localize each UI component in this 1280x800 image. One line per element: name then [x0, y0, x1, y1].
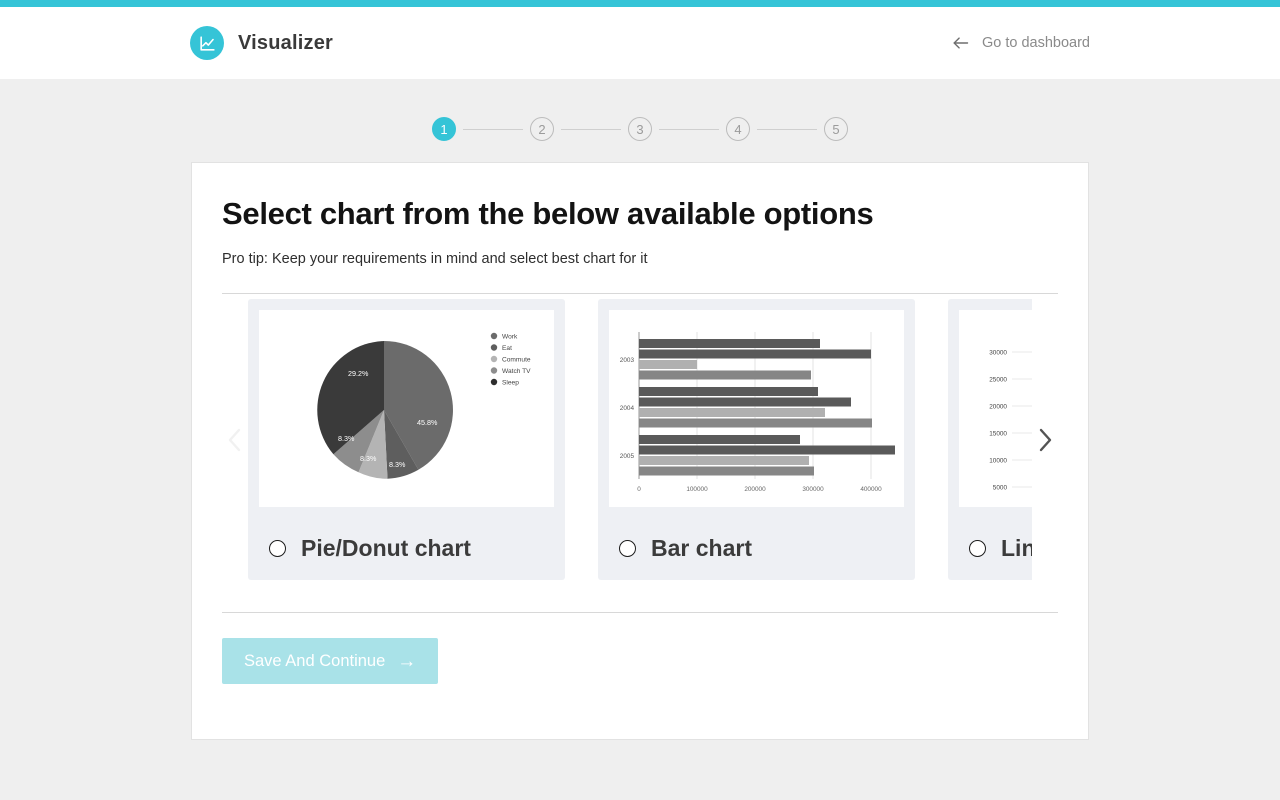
svg-text:2004: 2004: [620, 405, 635, 412]
app-header: Visualizer Go to dashboard: [0, 7, 1280, 79]
step-5[interactable]: 5: [824, 117, 848, 141]
step-connector-2: [561, 129, 621, 130]
radio-pie-chart[interactable]: [269, 540, 286, 557]
svg-text:200000: 200000: [744, 486, 766, 493]
svg-text:Commute: Commute: [502, 356, 531, 363]
svg-text:15000: 15000: [989, 430, 1007, 437]
chart-option-line[interactable]: 30000 25000 20000 15000 10000 5000 2015: [948, 299, 1032, 580]
chevron-right-icon[interactable]: [1032, 300, 1058, 580]
chart-options-carousel: 45.8% 8.3% 8.3% 8.3% 29.2% Work Eat Comm…: [222, 299, 1058, 580]
svg-text:300000: 300000: [802, 486, 824, 493]
svg-text:10000: 10000: [989, 457, 1007, 464]
bar-chart-svg: 2003 2004 2005 0 100000 200000 300000 40…: [610, 314, 903, 504]
svg-text:45.8%: 45.8%: [417, 418, 438, 427]
step-connector-3: [659, 129, 719, 130]
svg-text:Sleep: Sleep: [502, 379, 519, 386]
footer-divider: [222, 612, 1058, 613]
chart-option-line-footer[interactable]: Line: [959, 507, 1032, 580]
svg-text:Work: Work: [502, 333, 518, 340]
svg-text:Watch TV: Watch TV: [502, 367, 531, 374]
page-title: Select chart from the below available op…: [222, 196, 1058, 232]
step-2[interactable]: 2: [530, 117, 554, 141]
svg-text:25000: 25000: [989, 376, 1007, 383]
svg-text:8.3%: 8.3%: [389, 460, 406, 469]
go-to-dashboard-label: Go to dashboard: [982, 35, 1090, 51]
radio-bar-chart[interactable]: [619, 540, 636, 557]
pie-chart-thumb: 45.8% 8.3% 8.3% 8.3% 29.2% Work Eat Comm…: [259, 310, 554, 507]
chart-option-bar[interactable]: 2003 2004 2005 0 100000 200000 300000 40…: [598, 299, 915, 580]
svg-text:0: 0: [637, 486, 641, 493]
step-connector-4: [757, 129, 817, 130]
save-and-continue-label: Save And Continue: [244, 652, 385, 671]
line-chart-thumb: 30000 25000 20000 15000 10000 5000 2015: [959, 310, 1032, 507]
step-connector-1: [463, 129, 523, 130]
chart-option-pie-footer[interactable]: Pie/Donut chart: [259, 507, 554, 580]
step-1[interactable]: 1: [432, 117, 456, 141]
chart-option-pie-label: Pie/Donut chart: [301, 535, 471, 562]
svg-text:400000: 400000: [860, 486, 882, 493]
step-4[interactable]: 4: [726, 117, 750, 141]
svg-text:Eat: Eat: [502, 344, 512, 351]
step-3[interactable]: 3: [628, 117, 652, 141]
arrow-right-icon: →: [397, 652, 416, 671]
svg-text:8.3%: 8.3%: [360, 454, 377, 463]
carousel-viewport: 45.8% 8.3% 8.3% 8.3% 29.2% Work Eat Comm…: [248, 299, 1032, 580]
line-chart-svg: 30000 25000 20000 15000 10000 5000 2015: [960, 314, 1032, 504]
brand[interactable]: Visualizer: [190, 26, 333, 60]
svg-text:30000: 30000: [989, 349, 1007, 356]
chart-option-line-label: Line: [1001, 535, 1032, 562]
svg-text:20000: 20000: [989, 403, 1007, 410]
svg-text:2003: 2003: [620, 357, 635, 364]
go-to-dashboard-link[interactable]: Go to dashboard: [952, 35, 1090, 51]
svg-text:29.2%: 29.2%: [348, 369, 369, 378]
bar-chart-thumb: 2003 2004 2005 0 100000 200000 300000 40…: [609, 310, 904, 507]
save-and-continue-button[interactable]: Save And Continue →: [222, 638, 438, 684]
pie-chart-svg: 45.8% 8.3% 8.3% 8.3% 29.2% Work Eat Comm…: [260, 314, 553, 504]
brand-name: Visualizer: [238, 32, 333, 55]
chevron-left-icon[interactable]: [222, 300, 248, 580]
svg-text:100000: 100000: [686, 486, 708, 493]
pro-tip-text: Pro tip: Keep your requirements in mind …: [222, 251, 1058, 267]
carousel-track: 45.8% 8.3% 8.3% 8.3% 29.2% Work Eat Comm…: [248, 299, 1032, 580]
chart-option-bar-label: Bar chart: [651, 535, 752, 562]
svg-text:2005: 2005: [620, 453, 635, 460]
line-chart-icon: [190, 26, 224, 60]
arrow-left-icon: [952, 36, 969, 50]
svg-text:8.3%: 8.3%: [338, 434, 355, 443]
wizard-stepper: 1 2 3 4 5: [0, 117, 1280, 141]
top-accent-bar: [0, 0, 1280, 7]
svg-text:5000: 5000: [993, 484, 1008, 491]
title-divider: [222, 293, 1058, 294]
radio-line-chart[interactable]: [969, 540, 986, 557]
chart-option-pie[interactable]: 45.8% 8.3% 8.3% 8.3% 29.2% Work Eat Comm…: [248, 299, 565, 580]
wizard-card: Select chart from the below available op…: [191, 162, 1089, 740]
chart-option-bar-footer[interactable]: Bar chart: [609, 507, 904, 580]
